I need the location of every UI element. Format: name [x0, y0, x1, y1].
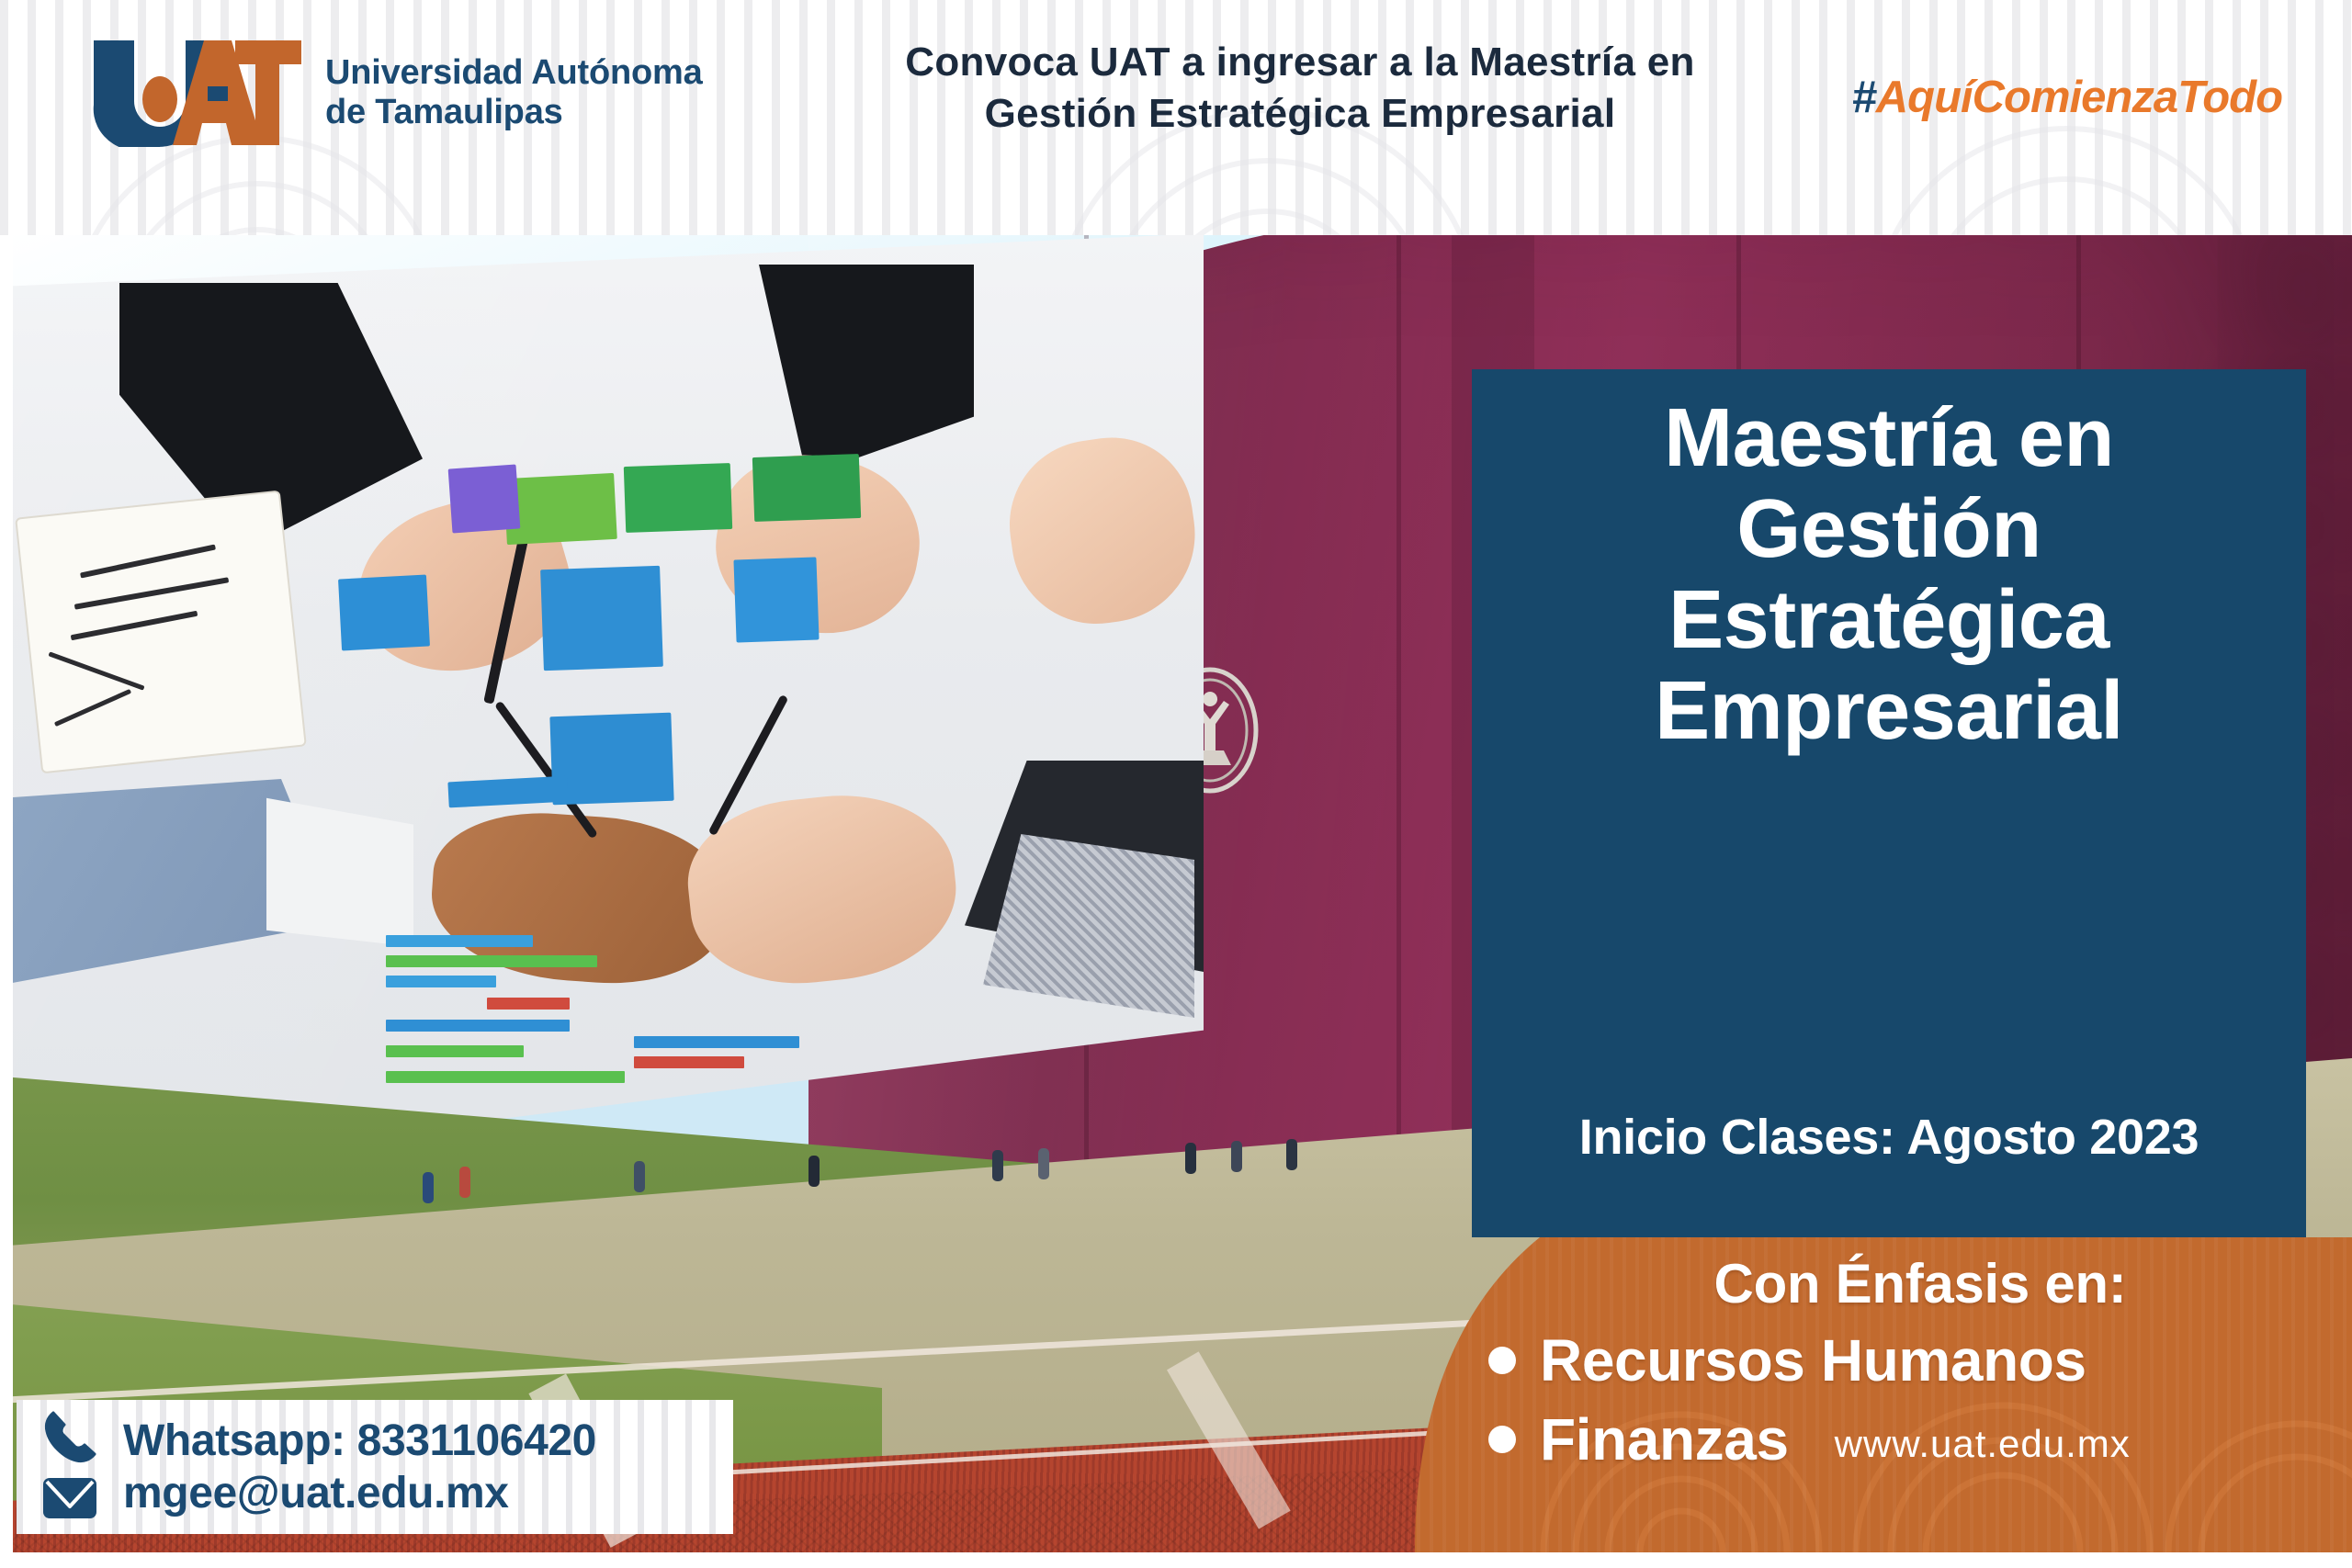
person-figure [1286, 1139, 1297, 1170]
emphasis-list: Recursos Humanos Finanzas www.uat.edu.mx [1488, 1326, 2324, 1473]
hashtag-text: AquíComienzaTodo [1876, 72, 2282, 123]
program-title-line-4: Empresarial [1655, 666, 2123, 757]
person-figure [1185, 1143, 1196, 1174]
uat-logo-icon [88, 39, 301, 147]
emphasis-heading: Con Énfasis en: [1488, 1252, 2324, 1315]
bullet-icon [1488, 1426, 1516, 1453]
bullet-icon [1488, 1347, 1516, 1374]
contact-text-column: Whatsapp: 8331106420 mgee@uat.edu.mx [123, 1400, 596, 1534]
emphasis-item-label: Recursos Humanos [1540, 1326, 2086, 1394]
header-title-line-2: Gestión Estratégica Empresarial [790, 88, 1810, 140]
whatsapp-number[interactable]: Whatsapp: 8331106420 [123, 1416, 596, 1466]
business-team-photo [0, 235, 1204, 1183]
program-title-line-1: Maestría en [1655, 393, 2123, 484]
emphasis-item-label: Finanzas [1540, 1405, 1789, 1473]
person-figure [423, 1172, 434, 1203]
phone-icon [39, 1409, 101, 1466]
emphasis-panel: Con Énfasis en: Recursos Humanos Finanza… [1378, 1237, 2352, 1552]
list-item: Finanzas www.uat.edu.mx [1488, 1405, 2324, 1473]
envelope-icon [39, 1470, 101, 1527]
bottom-white-margin [0, 1552, 2352, 1568]
logo-line-1: Universidad Autónoma [325, 53, 703, 93]
hash-symbol-icon: # [1852, 72, 1876, 123]
person-figure [634, 1161, 645, 1192]
person-figure [808, 1156, 820, 1187]
program-title: Maestría en Gestión Estratégica Empresar… [1655, 393, 2123, 757]
campaign-hashtag: # AquíComienzaTodo [1852, 72, 2282, 123]
left-white-margin [0, 235, 13, 1552]
logo-line-2: de Tamaulipas [325, 93, 703, 132]
contact-icon-column [17, 1400, 123, 1534]
program-panel: Maestría en Gestión Estratégica Empresar… [1472, 369, 2306, 1237]
uat-logo-wordmark: Universidad Autónoma de Tamaulipas [325, 53, 703, 132]
uat-logo[interactable]: Universidad Autónoma de Tamaulipas [88, 39, 703, 147]
program-title-line-2: Gestión [1655, 484, 2123, 575]
person-figure [1038, 1148, 1049, 1179]
program-title-line-3: Estratégica [1655, 575, 2123, 666]
list-item: Recursos Humanos [1488, 1326, 2324, 1394]
header-title: Convoca UAT a ingresar a la Maestría en … [790, 37, 1810, 141]
email-address[interactable]: mgee@uat.edu.mx [123, 1468, 596, 1518]
header-band: Universidad Autónoma de Tamaulipas Convo… [0, 0, 2352, 235]
header-title-line-1: Convoca UAT a ingresar a la Maestría en [790, 37, 1810, 88]
class-start-date: Inicio Clases: Agosto 2023 [1472, 1109, 2306, 1166]
contact-box: Whatsapp: 8331106420 mgee@uat.edu.mx [17, 1400, 733, 1534]
website-url[interactable]: www.uat.edu.mx [1835, 1422, 2131, 1473]
person-figure [459, 1167, 470, 1198]
poster-root: Universidad Autónoma de Tamaulipas Convo… [0, 0, 2352, 1568]
person-figure [992, 1150, 1003, 1181]
person-figure [1231, 1141, 1242, 1172]
emphasis-content: Con Énfasis en: Recursos Humanos Finanza… [1378, 1237, 2352, 1552]
